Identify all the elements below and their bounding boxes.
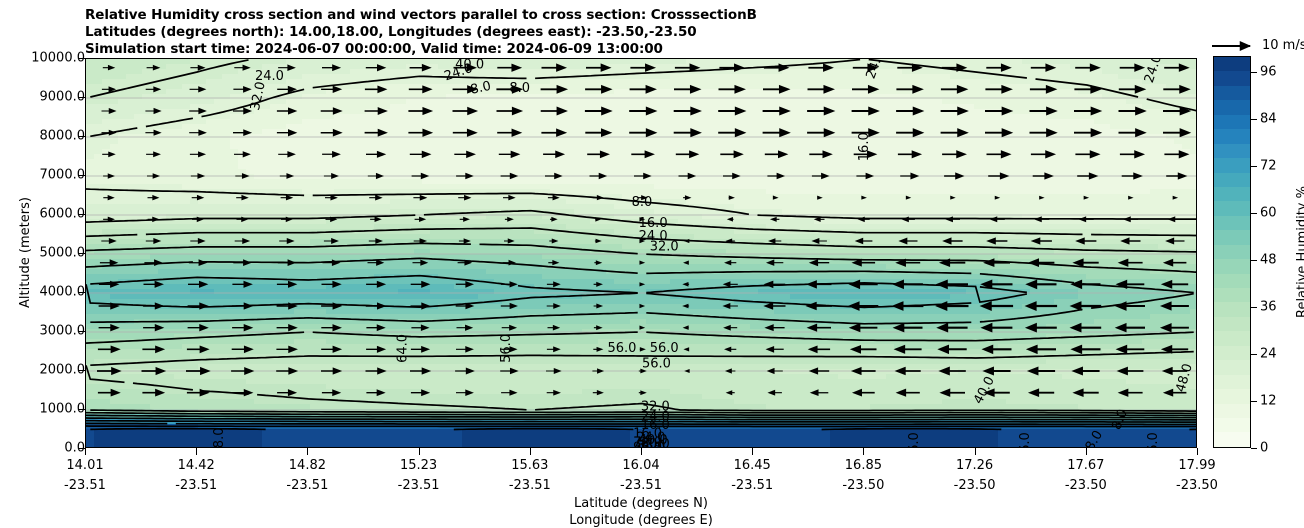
x-axis-tick (85, 448, 86, 455)
y-axis-tick-label: 1000.0 (40, 402, 86, 417)
colorbar-segment (1214, 115, 1250, 129)
x-axis-lon-label: -23.51 (731, 478, 773, 493)
colorbar-segment (1214, 201, 1250, 215)
colorbar-segment (1214, 144, 1250, 158)
colorbar-tick-label: 84 (1260, 111, 1277, 126)
contour-label: 56.0 (650, 341, 679, 356)
humidity-contour-field: 32.024.040.024.08.08.024.024.016.08.016.… (86, 59, 1197, 448)
colorbar-segment (1214, 346, 1250, 360)
cross-section-plot[interactable]: 32.024.040.024.08.08.024.024.016.08.016.… (85, 58, 1197, 448)
x-axis-lat-label: 17.26 (956, 458, 993, 473)
colorbar-segment (1214, 418, 1250, 432)
contour-label: 56.0 (608, 341, 637, 356)
colorbar-tick-label: 0 (1260, 441, 1268, 456)
y-axis-tick-label: 6000.0 (40, 207, 86, 222)
x-axis-lon-label: -23.50 (1065, 478, 1107, 493)
x-axis-tick (196, 448, 197, 455)
y-axis-tick-label: 0.0 (64, 441, 85, 456)
figure-title-line2: Latitudes (degrees north): 14.00,18.00, … (85, 24, 697, 40)
colorbar-segment (1214, 389, 1250, 403)
colorbar-segment (1214, 129, 1250, 143)
contour-label: 96.0 (1146, 432, 1161, 448)
colorbar-segment (1214, 404, 1250, 418)
colorbar-tick-label: 24 (1260, 346, 1277, 361)
colorbar-segment (1214, 375, 1250, 389)
colorbar-segment (1214, 331, 1250, 345)
colorbar-segment (1214, 100, 1250, 114)
contour-label: 88.0 (212, 428, 227, 448)
x-axis-lat-label: 16.04 (622, 458, 659, 473)
colorbar-segment (1214, 216, 1250, 230)
x-axis-lat-label: 17.67 (1067, 458, 1104, 473)
colorbar-tick (1251, 401, 1257, 402)
contour-label: 96.0 (1018, 432, 1033, 448)
colorbar-tick-label: 36 (1260, 299, 1277, 314)
colorbar-segment (1214, 302, 1250, 316)
colorbar-tick (1251, 119, 1257, 120)
colorbar-segment (1214, 317, 1250, 331)
contour-line (822, 429, 1002, 430)
figure-title-line3: Simulation start time: 2024-06-07 00:00:… (85, 41, 663, 57)
figure-canvas: Relative Humidity cross section and wind… (0, 0, 1304, 526)
colorbar-tick-label: 96 (1260, 64, 1277, 79)
contour-label: 32.0 (650, 239, 679, 254)
x-axis-lat-label: 15.63 (511, 458, 548, 473)
colorbar-tick (1251, 72, 1257, 73)
figure-title-line1: Relative Humidity cross section and wind… (85, 7, 757, 23)
colorbar-segment (1214, 432, 1250, 446)
colorbar-tick (1251, 307, 1257, 308)
x-axis-lon-label: -23.51 (398, 478, 440, 493)
x-axis-tick (419, 448, 420, 455)
y-axis-tick-label: 10000.0 (31, 51, 85, 66)
colorbar-tick (1251, 213, 1257, 214)
y-axis-tick-label: 3000.0 (40, 324, 86, 339)
contour-label: 64.0 (395, 334, 410, 363)
quiver-key-label: 10 m/s (1262, 38, 1304, 53)
colorbar-tick (1251, 448, 1257, 449)
colorbar-segment (1214, 230, 1250, 244)
colorbar-segment (1214, 71, 1250, 85)
x-axis-lon-label: -23.50 (954, 478, 996, 493)
y-axis-tick-label: 9000.0 (40, 90, 86, 105)
contour-line (454, 429, 634, 430)
x-axis-tick (1086, 448, 1087, 455)
x-axis-tick (530, 448, 531, 455)
colorbar-segment (1214, 86, 1250, 100)
y-axis-tick-label: 4000.0 (40, 285, 86, 300)
y-axis-tick-label: 8000.0 (40, 129, 86, 144)
x-axis-lat-label: 14.42 (178, 458, 215, 473)
colorbar-tick-label: 48 (1260, 252, 1277, 267)
colorbar-tick (1251, 260, 1257, 261)
x-axis-lon-label: -23.50 (842, 478, 884, 493)
colorbar-segment (1214, 288, 1250, 302)
colorbar-tick-label: 60 (1260, 205, 1277, 220)
contour-label: 24.0 (255, 69, 284, 84)
colorbar-tick-label: 12 (1260, 393, 1277, 408)
colorbar (1213, 56, 1251, 448)
x-axis-label-lat: Latitude (degrees N) (574, 496, 708, 511)
x-axis-lon-label: -23.51 (509, 478, 551, 493)
y-axis-tick-label: 2000.0 (40, 363, 86, 378)
contour-label: 96.0 (907, 432, 922, 448)
x-axis-tick (641, 448, 642, 455)
x-axis-lat-label: 14.01 (66, 458, 103, 473)
colorbar-tick-label: 72 (1260, 158, 1277, 173)
x-axis-lat-label: 15.23 (400, 458, 437, 473)
colorbar-segment (1214, 173, 1250, 187)
colorbar-label: Relative Humidity % (1295, 186, 1304, 318)
colorbar-segment (1214, 187, 1250, 201)
x-axis-tick (1197, 448, 1198, 455)
x-axis-tick (863, 448, 864, 455)
colorbar-segment (1214, 158, 1250, 172)
colorbar-tick (1251, 354, 1257, 355)
colorbar-segment (1214, 57, 1250, 71)
y-axis-tick-label: 7000.0 (40, 168, 86, 183)
x-axis-tick (307, 448, 308, 455)
contour-line (1091, 235, 1197, 236)
x-axis-lat-label: 16.45 (734, 458, 771, 473)
colorbar-tick (1251, 166, 1257, 167)
colorbar-segment (1214, 245, 1250, 259)
contour-label: 56.0 (642, 356, 671, 371)
x-axis-lon-label: -23.51 (620, 478, 662, 493)
x-axis-lon-label: -23.50 (1176, 478, 1218, 493)
quiver-key: 10 m/s (1210, 36, 1304, 56)
y-axis-label: Altitude (meters) (18, 197, 33, 308)
contour-line (90, 429, 265, 430)
x-axis-lon-label: -23.51 (64, 478, 106, 493)
x-axis-tick (975, 448, 976, 455)
x-axis-tick (752, 448, 753, 455)
y-axis-tick-label: 5000.0 (40, 246, 86, 261)
x-axis-lon-label: -23.51 (286, 478, 328, 493)
x-axis-lat-label: 16.85 (845, 458, 882, 473)
colorbar-segment (1214, 274, 1250, 288)
x-axis-lon-label: -23.51 (175, 478, 217, 493)
contour-label: 96.0 (633, 441, 662, 448)
contour-line (176, 424, 1197, 425)
colorbar-segment (1214, 360, 1250, 374)
x-axis-lat-label: 14.82 (289, 458, 326, 473)
arrow-right-icon (1210, 36, 1260, 56)
x-axis-lat-label: 17.99 (1178, 458, 1215, 473)
colorbar-segment (1214, 259, 1250, 273)
